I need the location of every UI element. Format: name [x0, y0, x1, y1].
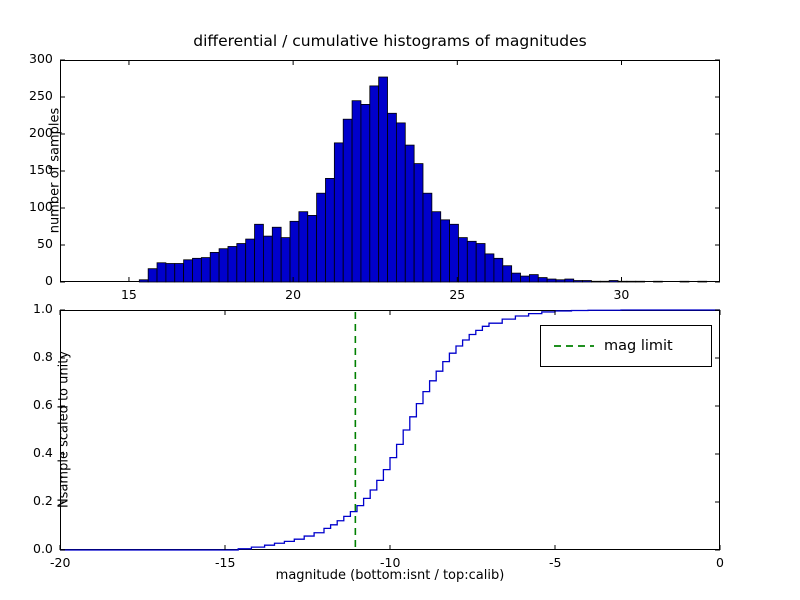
bottom-xtick--10: -10 [380, 555, 400, 570]
bottom-ytick-5: 1.0 [33, 301, 53, 316]
figure-canvas: differential / cumulative histograms of … [0, 0, 800, 600]
top-ytick-200: 200 [29, 125, 53, 140]
legend-label-mag-limit: mag limit [604, 338, 673, 354]
top-ytick-0: 0 [45, 273, 53, 288]
top-ytick-300: 300 [29, 51, 53, 66]
top-xtick-20: 20 [285, 287, 301, 302]
top-xtick-30: 30 [613, 287, 629, 302]
bottom-ytick-3: 0.6 [33, 397, 53, 412]
top-xtick-25: 25 [449, 287, 465, 302]
bottom-ytick-4: 0.8 [33, 349, 53, 364]
bottom-xtick--5: -5 [549, 555, 561, 570]
top-ytick-100: 100 [29, 199, 53, 214]
top-ytick-150: 150 [29, 162, 53, 177]
bottom-ytick-1: 0.2 [33, 493, 53, 508]
bottom-xtick--15: -15 [215, 555, 235, 570]
top-ytick-250: 250 [29, 88, 53, 103]
bottom-ytick-0: 0.0 [33, 541, 53, 556]
bottom-xtick-0: 0 [716, 555, 724, 570]
bottom-ytick-2: 0.4 [33, 445, 53, 460]
bottom-xtick--20: -20 [50, 555, 70, 570]
top-xtick-15: 15 [121, 287, 137, 302]
top-ytick-50: 50 [37, 236, 53, 251]
